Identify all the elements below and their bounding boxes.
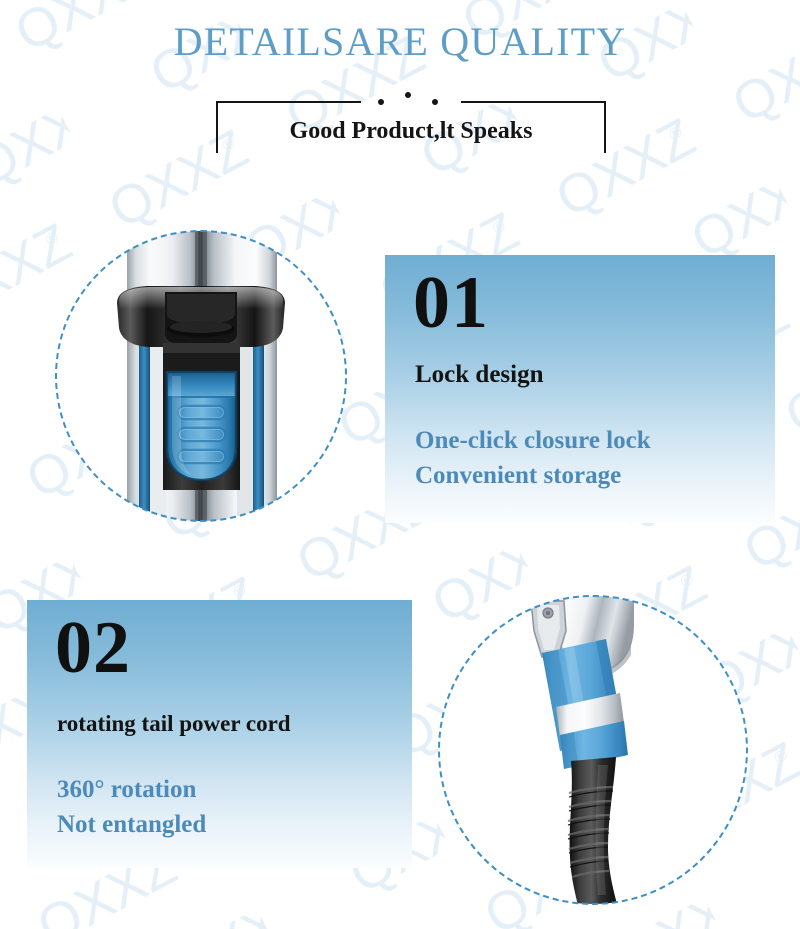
feature-description: 360° rotation Not entangled: [57, 772, 206, 842]
feature-card-02: 02 rotating tail power cord 360° rotatio…: [27, 600, 412, 868]
lock-photo-artwork: [55, 230, 347, 522]
feature-description: One-click closure lock Convenient storag…: [415, 423, 651, 493]
dot-icon: [378, 99, 384, 105]
product-detail-page: DETAILSARE QUALITY Good Product,lt Speak…: [0, 0, 800, 929]
page-title: DETAILSARE QUALITY: [0, 19, 800, 65]
page-subtitle: Good Product,lt Speaks: [216, 115, 606, 147]
feature-row-rotating-cord: 02 rotating tail power cord 360° rotatio…: [0, 580, 800, 929]
bracket-top-left-rule: [216, 101, 361, 103]
lock-detail-photo: [55, 230, 347, 522]
cord-photo-artwork: [438, 595, 748, 905]
feature-number: 01: [413, 261, 489, 345]
bracket-top-right-rule: [461, 101, 606, 103]
feature-row-lock-design: 01 Lock design One-click closure lock Co…: [0, 210, 800, 580]
feature-heading: Lock design: [415, 359, 544, 391]
feature-description-line: Convenient storage: [415, 458, 651, 493]
feature-description-line: One-click closure lock: [415, 423, 651, 458]
power-cord-detail-photo: [438, 595, 748, 905]
feature-description-line: Not entangled: [57, 807, 206, 842]
subtitle-bracket-block: Good Product,lt Speaks: [216, 95, 606, 153]
three-dots-ornament: [361, 91, 461, 109]
feature-number: 02: [55, 606, 131, 690]
feature-heading: rotating tail power cord: [57, 708, 291, 740]
dot-icon: [405, 92, 411, 98]
page-header: DETAILSARE QUALITY Good Product,lt Speak…: [0, 0, 800, 200]
dot-icon: [432, 99, 438, 105]
feature-card-01: 01 Lock design One-click closure lock Co…: [385, 255, 775, 523]
feature-description-line: 360° rotation: [57, 772, 206, 807]
